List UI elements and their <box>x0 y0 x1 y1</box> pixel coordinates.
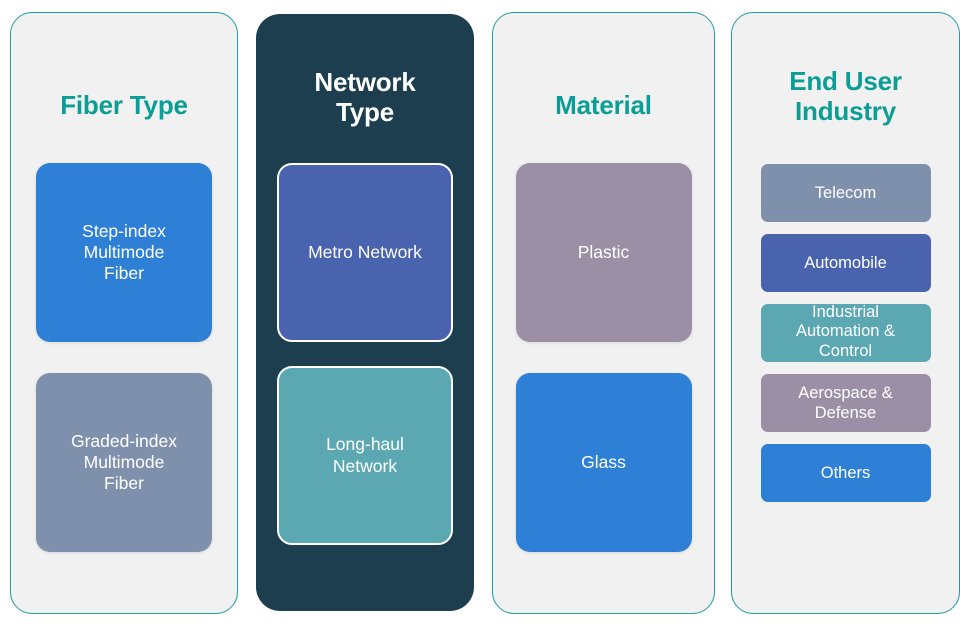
card-label: Industrial Automation & Control <box>790 303 901 362</box>
column-fiber-type: Fiber Type Step-index Multimode Fiber Gr… <box>10 12 238 614</box>
card-glass[interactable]: Glass <box>516 373 692 552</box>
column-title-end-user-industry: End User Industry <box>732 66 959 126</box>
card-label: Aerospace & Defense <box>792 383 898 423</box>
card-label: Plastic <box>572 242 636 263</box>
card-plastic[interactable]: Plastic <box>516 163 692 342</box>
column-end-user-industry: End User Industry Telecom Automobile Ind… <box>731 12 960 614</box>
card-label: Glass <box>575 452 632 473</box>
column-title-material: Material <box>493 90 714 120</box>
card-label: Others <box>815 463 877 483</box>
card-label: Step-index Multimode Fiber <box>76 221 172 285</box>
card-label: Telecom <box>809 183 882 203</box>
segmentation-diagram: Fiber Type Step-index Multimode Fiber Gr… <box>0 0 967 627</box>
card-long-haul-network[interactable]: Long-haul Network <box>277 366 453 545</box>
card-aerospace-defense[interactable]: Aerospace & Defense <box>759 372 933 434</box>
card-metro-network[interactable]: Metro Network <box>277 163 453 342</box>
card-label: Metro Network <box>302 242 428 263</box>
card-others[interactable]: Others <box>759 442 933 504</box>
card-label: Automobile <box>798 253 893 273</box>
column-network-type: Network Type Metro Network Long-haul Net… <box>256 14 474 611</box>
card-industrial-automation-control[interactable]: Industrial Automation & Control <box>759 302 933 364</box>
column-title-fiber-type: Fiber Type <box>11 90 237 120</box>
card-telecom[interactable]: Telecom <box>759 162 933 224</box>
card-label: Long-haul Network <box>320 434 410 477</box>
column-material: Material Plastic Glass <box>492 12 715 614</box>
card-step-index-multimode-fiber[interactable]: Step-index Multimode Fiber <box>36 163 212 342</box>
column-title-network-type: Network Type <box>256 67 474 127</box>
card-graded-index-multimode-fiber[interactable]: Graded-index Multimode Fiber <box>36 373 212 552</box>
card-label: Graded-index Multimode Fiber <box>65 431 183 495</box>
card-automobile[interactable]: Automobile <box>759 232 933 294</box>
